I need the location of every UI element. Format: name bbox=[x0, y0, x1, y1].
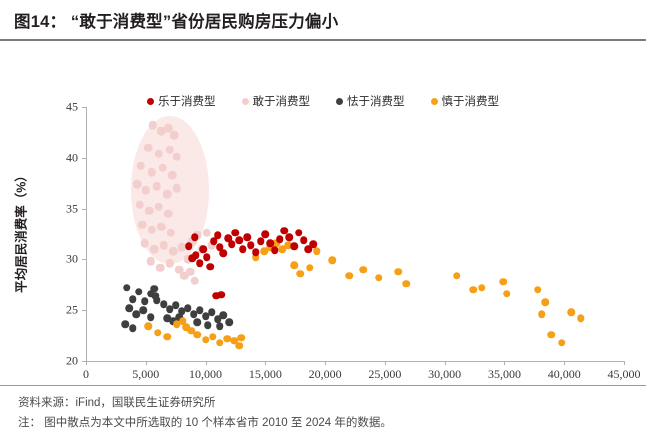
figure-container: 图14： “敢于消费型”省份居民购房压力偏小 乐于消费型敢于消费型怯于消费型慎于… bbox=[0, 0, 646, 439]
scatter-point bbox=[257, 237, 265, 245]
scatter-point bbox=[204, 322, 212, 330]
scatter-point bbox=[138, 221, 147, 230]
scatter-point bbox=[207, 263, 215, 271]
scatter-point bbox=[169, 247, 178, 256]
scatter-point bbox=[541, 298, 549, 306]
y-tick-label: 40 bbox=[66, 150, 78, 165]
scatter-point bbox=[538, 311, 546, 319]
scatter-point bbox=[141, 297, 149, 305]
scatter-point bbox=[220, 312, 228, 320]
x-tick-label: 30,000 bbox=[428, 367, 461, 382]
y-tick-label: 25 bbox=[66, 303, 78, 318]
scatter-point bbox=[173, 153, 182, 162]
scatter-point bbox=[129, 325, 137, 333]
y-axis-line bbox=[86, 107, 87, 361]
scatter-point bbox=[547, 331, 555, 339]
x-tick-label: 0 bbox=[83, 367, 89, 382]
scatter-point bbox=[290, 262, 298, 270]
scatter-point bbox=[217, 291, 225, 299]
scatter-point bbox=[140, 306, 148, 314]
scatter-point bbox=[123, 284, 131, 292]
scatter-point bbox=[226, 319, 234, 327]
scatter-point bbox=[285, 233, 293, 241]
scatter-point bbox=[345, 272, 353, 280]
scatter-point bbox=[142, 186, 151, 195]
scatter-point bbox=[216, 323, 224, 331]
scatter-point bbox=[193, 331, 201, 339]
x-tick-label: 15,000 bbox=[249, 367, 282, 382]
scatter-point bbox=[214, 231, 222, 239]
scatter-point bbox=[199, 245, 207, 253]
scatter-point bbox=[152, 292, 160, 300]
scatter-point bbox=[148, 226, 157, 235]
scatter-point bbox=[155, 149, 164, 158]
x-tick bbox=[445, 361, 446, 365]
y-tick bbox=[82, 158, 86, 159]
scatter-point bbox=[499, 278, 507, 286]
scatter-point bbox=[144, 323, 152, 331]
scatter-point bbox=[159, 241, 168, 250]
x-tick-label: 20,000 bbox=[309, 367, 342, 382]
scatter-point bbox=[136, 200, 145, 209]
scatter-point bbox=[156, 263, 165, 272]
figure-footer: 资料来源：iFind，国联民生证券研究所 注： 图中散点为本文中所选取的 10 … bbox=[0, 385, 646, 439]
scatter-point bbox=[150, 245, 159, 254]
scatter-point bbox=[360, 266, 368, 274]
y-tick bbox=[82, 209, 86, 210]
scatter-point bbox=[133, 180, 142, 189]
scatter-point bbox=[152, 182, 161, 191]
scatter-point bbox=[186, 267, 195, 276]
scatter-point bbox=[125, 304, 133, 312]
scatter-point bbox=[140, 239, 149, 248]
scatter-point bbox=[193, 319, 201, 327]
x-tick-label: 25,000 bbox=[368, 367, 401, 382]
scatter-point bbox=[558, 339, 566, 347]
x-tick-label: 45,000 bbox=[608, 367, 641, 382]
plot-area: 202530354045 05,00010,00015,00020,00025,… bbox=[86, 107, 624, 361]
scatter-point bbox=[164, 333, 172, 341]
x-tick bbox=[265, 361, 266, 365]
scatter-point bbox=[196, 260, 204, 268]
scatter-point bbox=[470, 286, 478, 294]
y-tick-label: 35 bbox=[66, 201, 78, 216]
x-tick bbox=[504, 361, 505, 365]
scatter-point bbox=[235, 236, 243, 244]
scatter-point bbox=[163, 190, 172, 199]
scatter-point bbox=[313, 248, 321, 256]
scatter-point bbox=[309, 240, 317, 248]
scatter-point bbox=[238, 334, 246, 342]
scatter-point bbox=[137, 162, 146, 171]
scatter-point bbox=[300, 236, 308, 244]
scatter-point bbox=[375, 274, 383, 282]
scatter-point bbox=[203, 229, 212, 238]
y-tick bbox=[82, 259, 86, 260]
scatter-point bbox=[164, 209, 173, 218]
scatter-point bbox=[173, 184, 182, 193]
scatter-point bbox=[239, 245, 247, 253]
scatter-point bbox=[403, 280, 411, 288]
scatter-point bbox=[290, 242, 298, 250]
scatter-point bbox=[165, 145, 174, 154]
x-tick bbox=[206, 361, 207, 365]
x-tick bbox=[564, 361, 565, 365]
y-tick-label: 30 bbox=[66, 252, 78, 267]
page-title: 图14： “敢于消费型”省份居民购房压力偏小 bbox=[14, 8, 632, 32]
legend-marker-icon bbox=[336, 98, 343, 105]
scatter-point bbox=[165, 259, 174, 268]
scatter-point bbox=[145, 206, 154, 215]
scatter-point bbox=[135, 288, 143, 296]
scatter-point bbox=[306, 264, 314, 272]
scatter-point bbox=[296, 270, 304, 278]
y-axis-title: 平均居民消费率（%） bbox=[11, 169, 30, 293]
x-tick-label: 40,000 bbox=[548, 367, 581, 382]
scatter-point bbox=[144, 143, 153, 152]
scatter-point bbox=[577, 315, 585, 323]
x-tick bbox=[86, 361, 87, 365]
scatter-point bbox=[208, 308, 216, 316]
note-line: 注： 图中散点为本文中所选取的 10 个样本省市 2010 至 2024 年的数… bbox=[18, 413, 628, 433]
scatter-point bbox=[209, 333, 217, 341]
legend-marker-icon bbox=[147, 98, 154, 105]
scatter-point bbox=[168, 171, 177, 180]
scatter-point bbox=[157, 223, 166, 232]
scatter-point bbox=[534, 286, 542, 294]
scatter-point bbox=[129, 295, 137, 303]
scatter-point bbox=[235, 342, 243, 350]
scatter-point bbox=[244, 233, 252, 241]
scatter-point bbox=[220, 250, 228, 258]
x-tick-label: 5,000 bbox=[132, 367, 159, 382]
scatter-point bbox=[170, 131, 179, 140]
scatter-point bbox=[155, 202, 164, 211]
scatter-point bbox=[394, 268, 402, 276]
x-tick-label: 10,000 bbox=[189, 367, 222, 382]
x-tick bbox=[624, 361, 625, 365]
legend-marker-icon bbox=[431, 98, 438, 105]
legend-marker-icon bbox=[242, 98, 249, 105]
y-tick-label: 45 bbox=[66, 100, 78, 115]
scatter-point bbox=[154, 329, 162, 337]
scatter-point bbox=[503, 290, 511, 298]
source-line: 资料来源：iFind，国联民生证券研究所 bbox=[18, 393, 628, 413]
scatter-point bbox=[185, 242, 193, 250]
scatter-point bbox=[271, 247, 279, 255]
y-tick bbox=[82, 107, 86, 108]
y-tick-label: 20 bbox=[66, 354, 78, 369]
figure-title-block: 图14： “敢于消费型”省份居民购房压力偏小 bbox=[0, 0, 646, 41]
scatter-point bbox=[158, 164, 167, 173]
chart-body: 乐于消费型敢于消费型怯于消费型慎于消费型 平均居民消费率（%） 房屋平均销售价格… bbox=[0, 41, 646, 385]
x-axis-line bbox=[86, 361, 624, 362]
scatter-point bbox=[167, 229, 176, 238]
scatter-point bbox=[191, 233, 199, 241]
scatter-point bbox=[329, 257, 337, 265]
scatter-point bbox=[147, 314, 155, 322]
scatter-point bbox=[568, 308, 576, 316]
scatter-point bbox=[149, 121, 158, 130]
x-tick bbox=[385, 361, 386, 365]
y-tick bbox=[82, 310, 86, 311]
scatter-point bbox=[276, 235, 284, 243]
x-tick bbox=[146, 361, 147, 365]
scatter-point bbox=[262, 230, 270, 238]
scatter-point bbox=[191, 276, 200, 285]
x-tick bbox=[325, 361, 326, 365]
scatter-point bbox=[453, 272, 461, 280]
scatter-point bbox=[189, 255, 197, 263]
scatter-point bbox=[148, 168, 157, 177]
scatter-point bbox=[478, 284, 486, 292]
x-tick-label: 35,000 bbox=[488, 367, 521, 382]
scatter-point bbox=[146, 257, 155, 266]
scatter-point bbox=[252, 249, 260, 257]
scatter-point bbox=[203, 254, 211, 262]
